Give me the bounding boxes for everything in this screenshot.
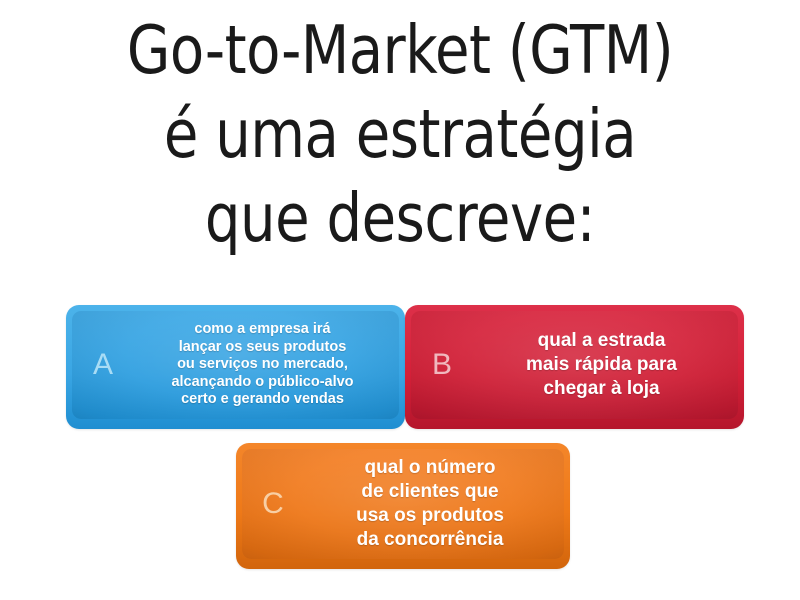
quiz-slide: Go-to-Market (GTM) é uma estratégia que … [0,0,800,600]
answer-text-c: qual o número de clientes que usa os pro… [304,456,564,552]
answer-option-a[interactable]: A como a empresa irá lançar os seus prod… [66,305,405,429]
answer-text-a: como a empresa irá lançar os seus produt… [134,321,399,409]
answer-option-c[interactable]: C qual o número de clientes que usa os p… [236,443,570,569]
answer-option-c-surface: C qual o número de clientes que usa os p… [242,449,564,559]
answer-option-a-surface: A como a empresa irá lançar os seus prod… [72,311,399,419]
answer-option-b-surface: B qual a estrada mais rápida para chegar… [411,311,738,419]
answer-text-b: qual a estrada mais rápida para chegar à… [473,329,738,401]
question-title: Go-to-Market (GTM) é uma estratégia que … [28,8,772,260]
answer-letter-c: C [242,489,304,519]
answer-letter-b: B [411,350,473,380]
answer-option-b[interactable]: B qual a estrada mais rápida para chegar… [405,305,744,429]
answer-letter-a: A [72,350,134,380]
answer-options-group: A como a empresa irá lançar os seus prod… [0,298,800,588]
